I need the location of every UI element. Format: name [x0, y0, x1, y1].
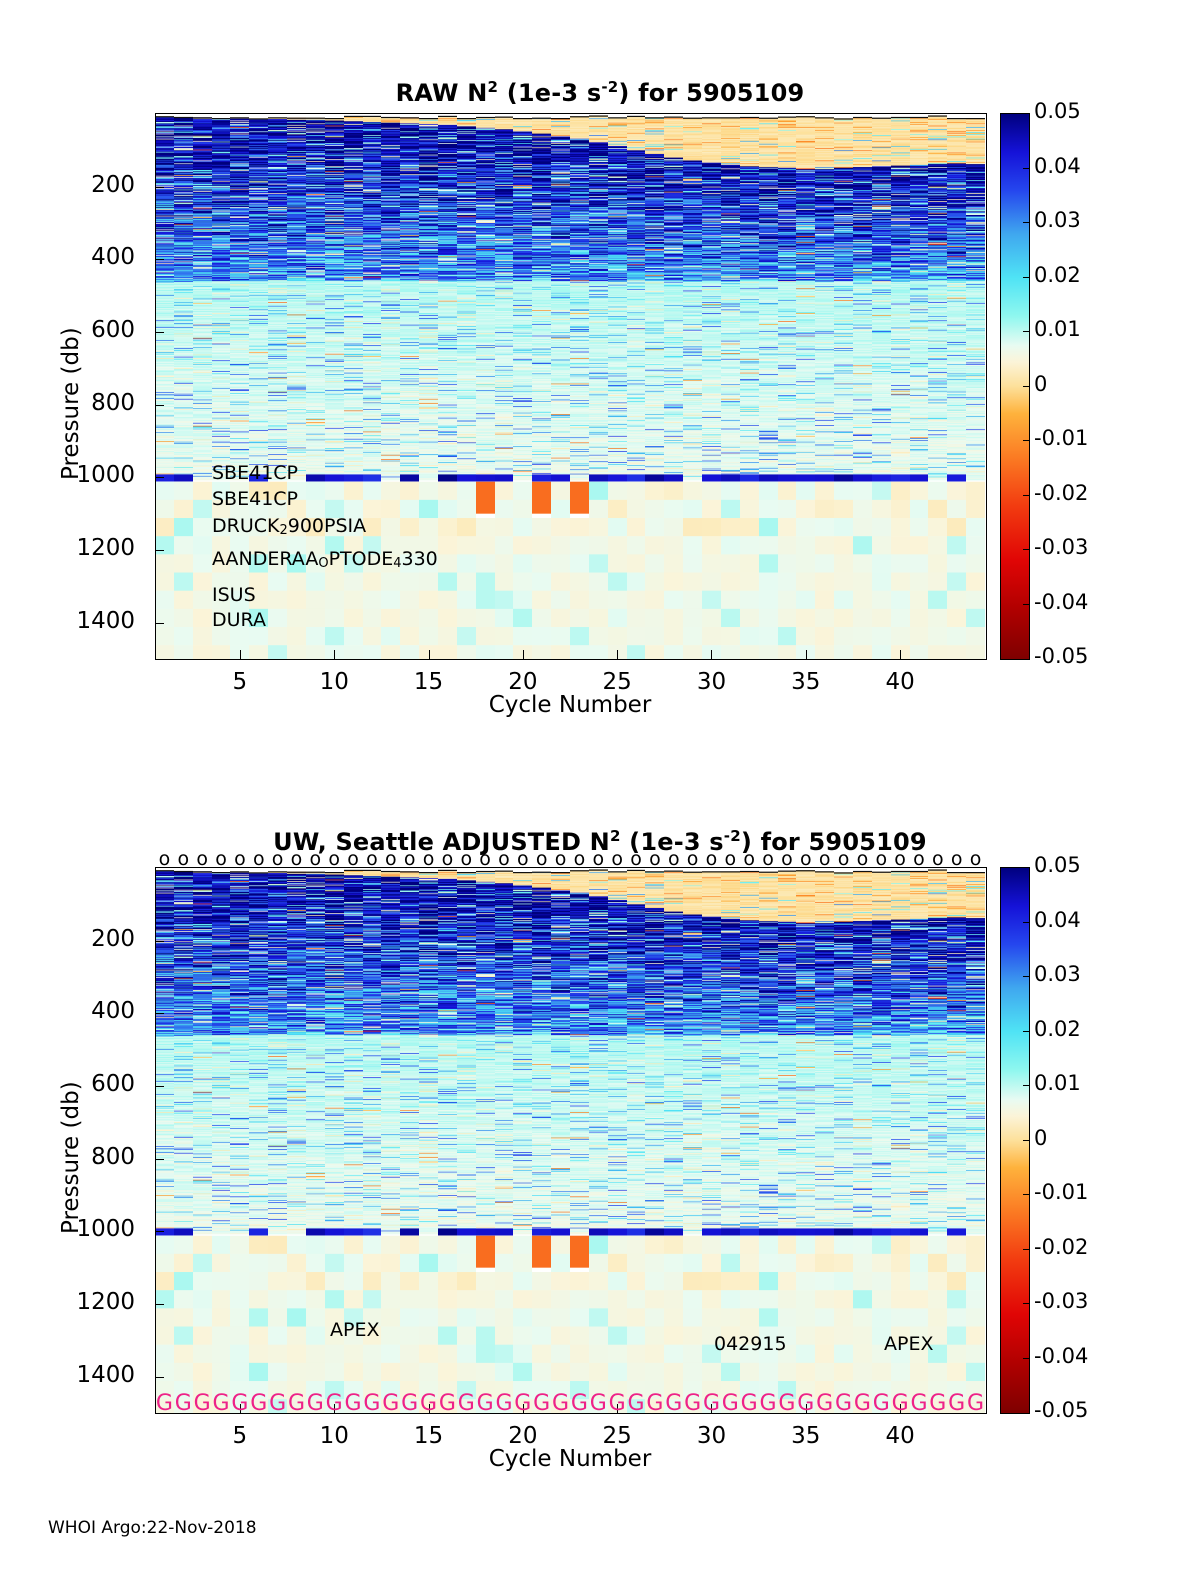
grounded-marker: G [288, 1393, 305, 1415]
grounded-marker: G [363, 1393, 380, 1415]
raw-x-axis-label: Cycle Number [155, 692, 985, 718]
colorbar-tick-label: -0.01 [1034, 1180, 1088, 1204]
colorbar-tick-label: 0.05 [1034, 99, 1081, 123]
cycle-marker: o [800, 848, 812, 870]
cycle-marker: o [649, 848, 661, 870]
grounded-marker: G [967, 1393, 984, 1415]
cycle-marker: o [743, 848, 755, 870]
cycle-marker: o [404, 848, 416, 870]
cycle-marker: o [234, 848, 246, 870]
grounded-marker: G [175, 1393, 192, 1415]
y-tick-mark [155, 187, 164, 188]
adjusted-colorbar [1000, 867, 1030, 1414]
grounded-marker: G [571, 1393, 588, 1415]
y-tick-mark [155, 1086, 164, 1087]
colorbar-tick-label: -0.02 [1034, 481, 1088, 505]
grounded-marker: G [722, 1393, 739, 1415]
raw-title-mid: (1e-3 s [498, 79, 601, 107]
colorbar-tick-label: 0.04 [1034, 908, 1081, 932]
cycle-marker: o [328, 848, 340, 870]
raw-title-suffix: ) for 5905109 [618, 79, 804, 107]
grounded-marker: G [590, 1393, 607, 1415]
colorbar-tick-mark [1023, 495, 1030, 496]
grounded-marker: G [477, 1393, 494, 1415]
grounded-marker: G [307, 1393, 324, 1415]
grounded-marker: G [212, 1393, 229, 1415]
grounded-marker: G [646, 1393, 663, 1415]
cycle-marker: o [725, 848, 737, 870]
y-tick-mark [155, 477, 164, 478]
cycle-marker: o [196, 848, 208, 870]
y-tick-value: 400 [91, 998, 135, 1024]
colorbar-tick-label: -0.05 [1034, 1398, 1088, 1422]
y-tick-mark [155, 1159, 164, 1160]
grounded-marker: G [552, 1393, 569, 1415]
adj-title-sup2: -2 [724, 827, 741, 845]
cycle-marker: o [517, 848, 529, 870]
colorbar-tick-mark [1023, 1303, 1030, 1304]
raw-heatmap[interactable] [155, 114, 985, 659]
grounded-marker: G [873, 1393, 890, 1415]
cycle-marker: o [762, 848, 774, 870]
cycle-marker: o [574, 848, 586, 870]
raw-title-sup1: 2 [488, 78, 499, 96]
grounded-marker: G [948, 1393, 965, 1415]
colorbar-tick-label: 0.02 [1034, 263, 1081, 287]
y-tick-mark [155, 332, 164, 333]
adjusted-x-axis-label: Cycle Number [155, 1446, 985, 1472]
raw-title-prefix: RAW N [396, 79, 488, 107]
cycle-marker: o [498, 848, 510, 870]
y-tick-value: 1200 [76, 1289, 135, 1315]
grounded-marker: G [665, 1393, 682, 1415]
grounded-marker: G [627, 1393, 644, 1415]
grounded-marker: G [156, 1393, 173, 1415]
x-tick-mark [711, 650, 712, 659]
cycle-marker: o [385, 848, 397, 870]
grounded-marker: G [929, 1393, 946, 1415]
plot-annotation: DRUCK2900PSIA [212, 515, 366, 538]
colorbar-tick-mark [1023, 604, 1030, 605]
x-tick-mark [523, 650, 524, 659]
cycle-marker: o [875, 848, 887, 870]
colorbar-tick-label: 0 [1034, 372, 1047, 396]
cycle-marker: o [951, 848, 963, 870]
cycle-marker: o [668, 848, 680, 870]
colorbar-tick-label: 0.04 [1034, 154, 1081, 178]
colorbar-tick-mark [1023, 1031, 1030, 1032]
x-tick-mark [429, 650, 430, 659]
cycle-marker: o [611, 848, 623, 870]
plot-annotation: 042915 [714, 1333, 787, 1355]
cycle-marker: o [894, 848, 906, 870]
colorbar-tick-label: -0.02 [1034, 1235, 1088, 1259]
grounded-marker: G [495, 1393, 512, 1415]
colorbar-tick-mark [1023, 277, 1030, 278]
y-tick-mark [155, 1377, 164, 1378]
grounded-marker: G [684, 1393, 701, 1415]
grounded-marker: G [910, 1393, 927, 1415]
grounded-marker: G [326, 1393, 343, 1415]
cycle-marker: o [932, 848, 944, 870]
colorbar-tick-label: 0.01 [1034, 317, 1081, 341]
y-tick-mark [155, 1231, 164, 1232]
y-tick-value: 800 [91, 1144, 135, 1170]
cycle-marker: o [630, 848, 642, 870]
y-tick-value: 600 [91, 317, 135, 343]
y-tick-mark [155, 623, 164, 624]
raw-y-axis-label: Pressure (db) [58, 327, 84, 480]
x-tick-mark [900, 650, 901, 659]
colorbar-tick-mark [1023, 168, 1030, 169]
cycle-marker: o [460, 848, 472, 870]
grounded-marker: G [609, 1393, 626, 1415]
cycle-marker: o [781, 848, 793, 870]
cycle-marker: o [366, 848, 378, 870]
cycle-marker: o [555, 848, 567, 870]
cycle-marker: o [970, 848, 982, 870]
cycle-marker: o [857, 848, 869, 870]
cycle-marker: o [272, 848, 284, 870]
grounded-marker: G [816, 1393, 833, 1415]
cycle-marker: o [159, 848, 171, 870]
colorbar-tick-mark [1023, 440, 1030, 441]
y-tick-value: 1000 [76, 462, 135, 488]
cycle-marker: o [706, 848, 718, 870]
raw-plot-title: RAW N2 (1e-3 s-2) for 5905109 [0, 78, 1200, 107]
adjusted-top-marker-row: oooooooooooooooooooooooooooooooooooooooo… [155, 848, 985, 870]
grounded-marker: G [797, 1393, 814, 1415]
x-tick-mark [334, 650, 335, 659]
grounded-marker: G [269, 1393, 286, 1415]
colorbar-tick-label: 0.01 [1034, 1071, 1081, 1095]
x-tick-mark [240, 650, 241, 659]
y-tick-mark [155, 405, 164, 406]
colorbar-tick-mark [1023, 386, 1030, 387]
plot-annotation: SBE41CP [212, 488, 298, 510]
plot-annotation: APEX [884, 1333, 933, 1355]
grounded-marker: G [439, 1393, 456, 1415]
colorbar-tick-label: 0.03 [1034, 962, 1081, 986]
adjusted-y-axis-label: Pressure (db) [58, 1081, 84, 1234]
raw-panel: RAW N2 (1e-3 s-2) for 5905109 Pressure (… [0, 0, 1200, 760]
y-tick-mark [155, 941, 164, 942]
colorbar-tick-label: -0.04 [1034, 1344, 1088, 1368]
y-tick-value: 600 [91, 1071, 135, 1097]
grounded-marker: G [892, 1393, 909, 1415]
colorbar-tick-label: -0.04 [1034, 590, 1088, 614]
colorbar-tick-label: -0.03 [1034, 1289, 1088, 1313]
colorbar-tick-mark [1023, 222, 1030, 223]
cycle-marker: o [913, 848, 925, 870]
colorbar-tick-mark [1023, 1085, 1030, 1086]
colorbar-tick-mark [1023, 1249, 1030, 1250]
cycle-marker: o [479, 848, 491, 870]
y-tick-value: 1400 [76, 608, 135, 634]
plot-annotation: AANDERAAOPTODE4330 [212, 548, 438, 571]
plot-annotation: ISUS [212, 584, 256, 606]
colorbar-tick-label: 0.05 [1034, 853, 1081, 877]
colorbar-tick-label: -0.01 [1034, 426, 1088, 450]
colorbar-tick-mark [1023, 1140, 1030, 1141]
cycle-marker: o [442, 848, 454, 870]
x-tick-mark [617, 650, 618, 659]
cycle-marker: o [291, 848, 303, 870]
adjusted-panel: UW, Seattle ADJUSTED N2 (1e-3 s-2) for 5… [0, 745, 1200, 1505]
y-tick-mark [155, 1304, 164, 1305]
grounded-marker: G [250, 1393, 267, 1415]
colorbar-tick-label: 0.02 [1034, 1017, 1081, 1041]
raw-title-sup2: -2 [601, 78, 618, 96]
grounded-marker: G [854, 1393, 871, 1415]
y-tick-mark [155, 259, 164, 260]
grounded-marker: G [194, 1393, 211, 1415]
cycle-marker: o [838, 848, 850, 870]
colorbar-tick-label: -0.03 [1034, 535, 1088, 559]
grounded-marker: G [741, 1393, 758, 1415]
cycle-marker: o [310, 848, 322, 870]
grounded-marker: G [458, 1393, 475, 1415]
y-tick-value: 800 [91, 390, 135, 416]
colorbar-tick-mark [1023, 1358, 1030, 1359]
footer-text: WHOI Argo:22-Nov-2018 [48, 1518, 257, 1538]
cycle-marker: o [347, 848, 359, 870]
plot-annotation: SBE41CP [212, 462, 298, 484]
y-tick-value: 400 [91, 244, 135, 270]
grounded-marker: G [382, 1393, 399, 1415]
colorbar-tick-mark [1023, 976, 1030, 977]
y-tick-value: 200 [91, 172, 135, 198]
grounded-marker: G [835, 1393, 852, 1415]
colorbar-tick-mark [1023, 1194, 1030, 1195]
grounded-marker: G [760, 1393, 777, 1415]
y-tick-mark [155, 550, 164, 551]
cycle-marker: o [177, 848, 189, 870]
y-tick-value: 1200 [76, 535, 135, 561]
raw-colorbar [1000, 113, 1030, 660]
y-tick-value: 1400 [76, 1362, 135, 1388]
grounded-marker: G [345, 1393, 362, 1415]
y-tick-value: 1000 [76, 1216, 135, 1242]
grounded-marker: G [778, 1393, 795, 1415]
cycle-marker: o [536, 848, 548, 870]
y-tick-value: 200 [91, 926, 135, 952]
adjusted-heatmap[interactable] [155, 868, 985, 1413]
grounded-marker: G [401, 1393, 418, 1415]
plot-annotation: APEX [330, 1319, 379, 1341]
cycle-marker: o [687, 848, 699, 870]
cycle-marker: o [253, 848, 265, 870]
colorbar-tick-label: -0.05 [1034, 644, 1088, 668]
cycle-marker: o [423, 848, 435, 870]
adjusted-bottom-marker-row: GGGGGGGGGGGGGGGGGGGGGGGGGGGGGGGGGGGGGGGG… [155, 1393, 985, 1415]
grounded-marker: G [420, 1393, 437, 1415]
y-tick-mark [155, 1013, 164, 1014]
grounded-marker: G [231, 1393, 248, 1415]
cycle-marker: o [215, 848, 227, 870]
adj-title-sup1: 2 [610, 827, 621, 845]
colorbar-tick-mark [1023, 922, 1030, 923]
grounded-marker: G [703, 1393, 720, 1415]
colorbar-tick-label: 0 [1034, 1126, 1047, 1150]
colorbar-tick-label: 0.03 [1034, 208, 1081, 232]
x-tick-mark [806, 650, 807, 659]
cycle-marker: o [592, 848, 604, 870]
colorbar-tick-mark [1023, 549, 1030, 550]
grounded-marker: G [533, 1393, 550, 1415]
plot-annotation: DURA [212, 609, 266, 631]
colorbar-tick-mark [1023, 331, 1030, 332]
cycle-marker: o [819, 848, 831, 870]
grounded-marker: G [514, 1393, 531, 1415]
